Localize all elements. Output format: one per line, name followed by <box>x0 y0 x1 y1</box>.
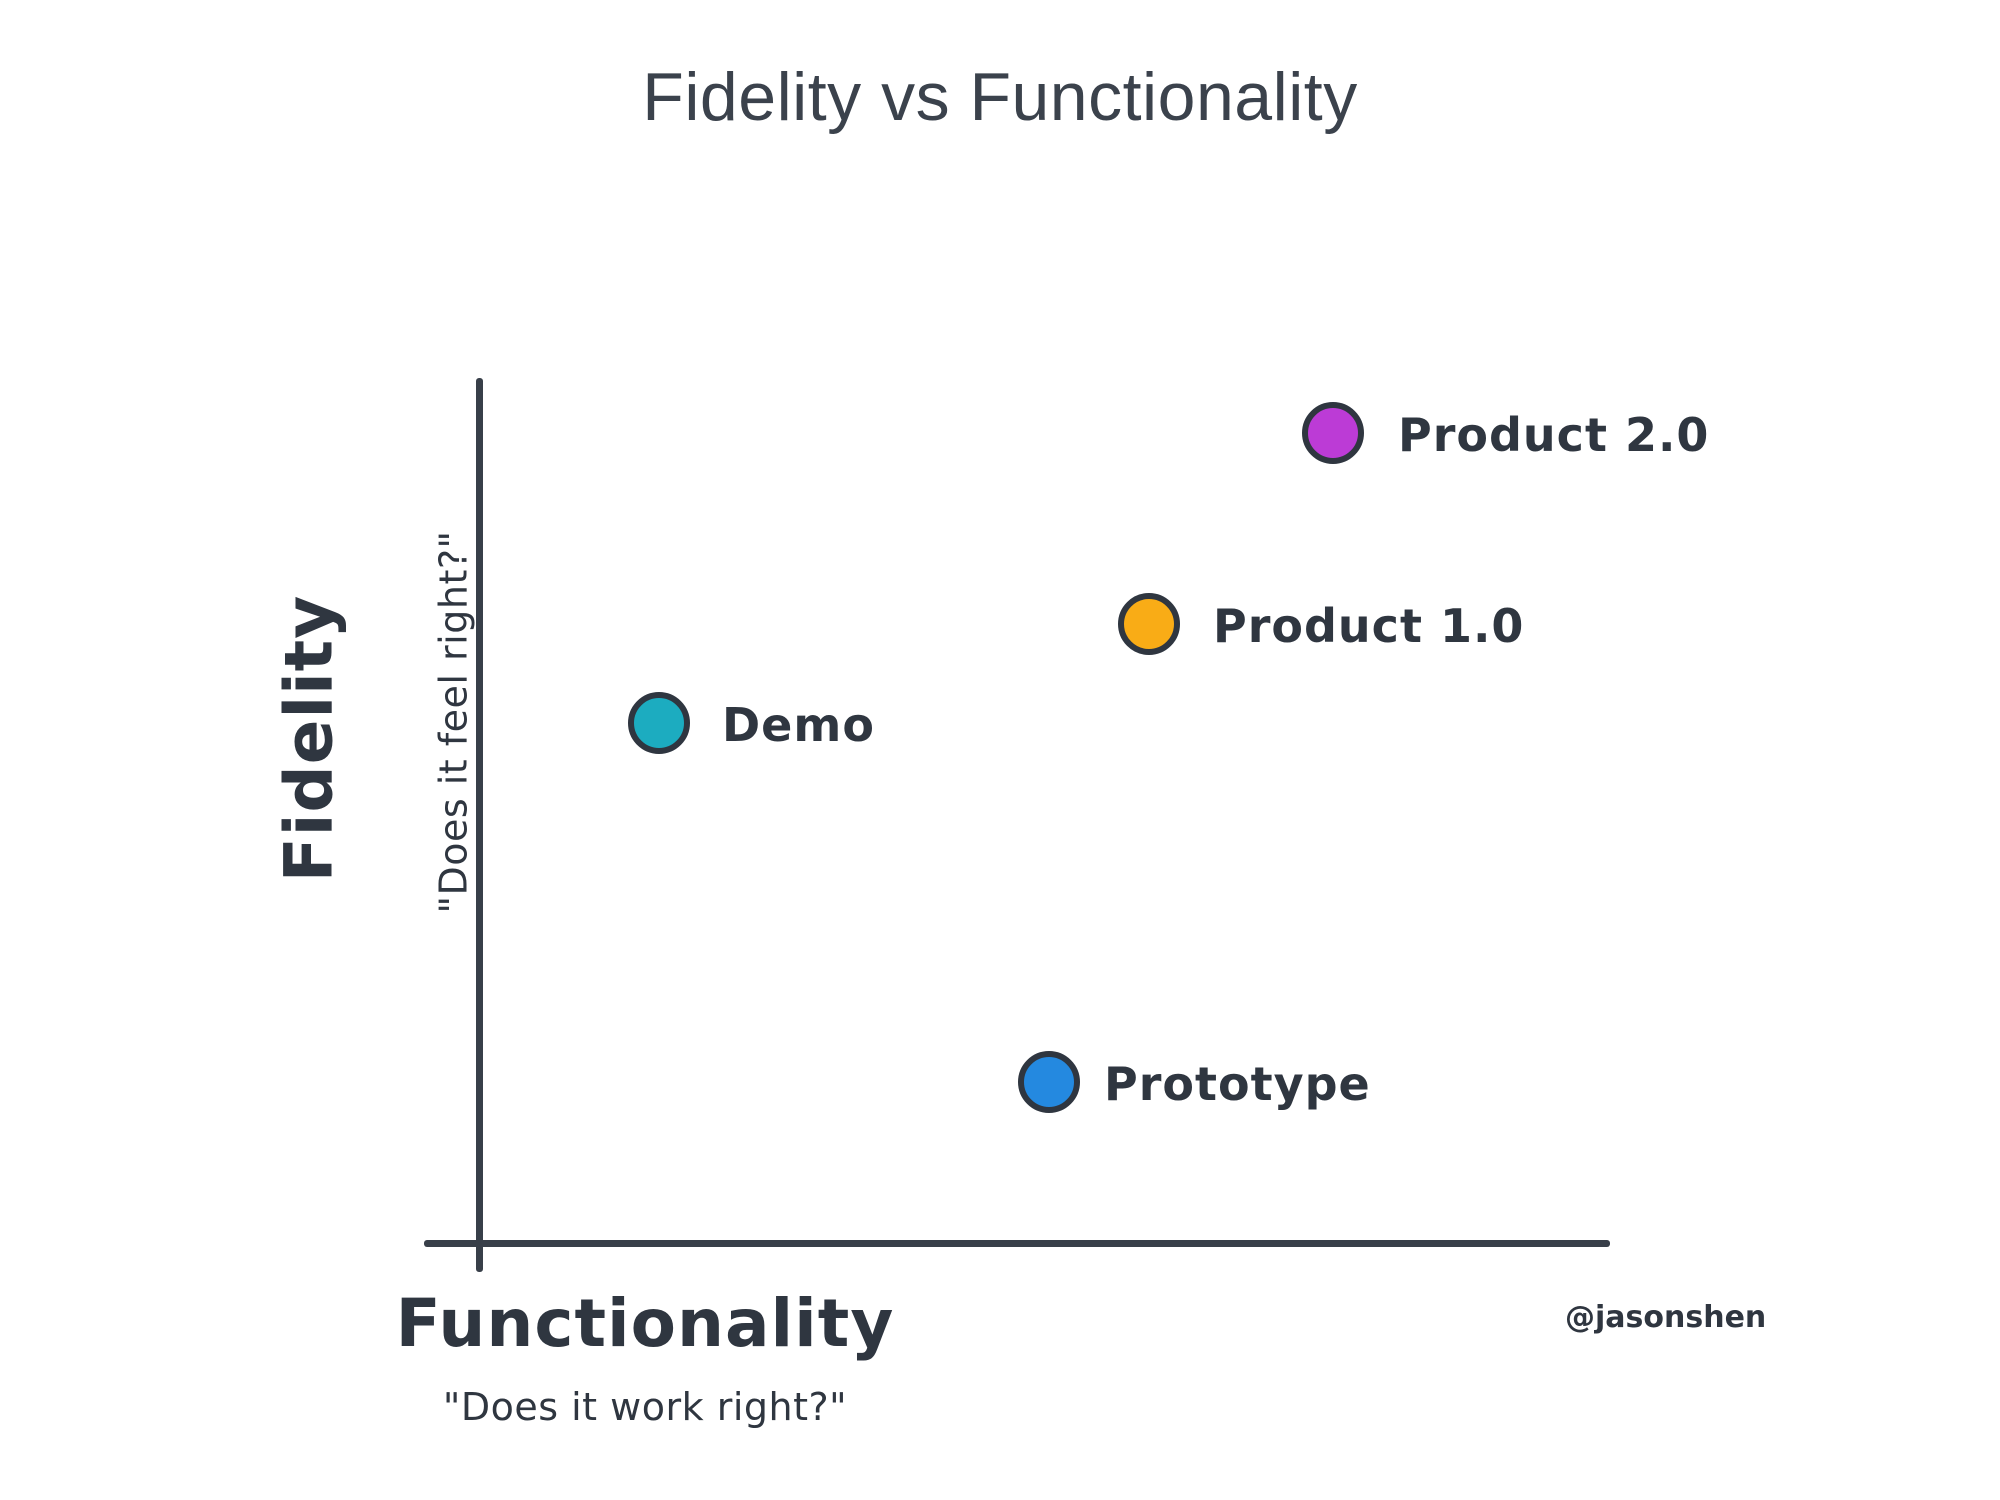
data-point-product-2-0[interactable] <box>1302 402 1364 464</box>
data-point-label-prototype: Prototype <box>1104 1057 1371 1111</box>
data-point-label-product-1-0: Product 1.0 <box>1213 599 1524 653</box>
data-point-product-1-0[interactable] <box>1118 593 1180 655</box>
x-axis-line <box>424 1240 1610 1247</box>
x-axis-title: Functionality <box>0 1285 1290 1362</box>
data-point-demo[interactable] <box>628 692 690 754</box>
y-axis-title: Fidelity <box>270 595 347 883</box>
y-axis-line <box>476 378 483 1272</box>
data-point-label-demo: Demo <box>722 698 875 752</box>
data-point-label-product-2-0: Product 2.0 <box>1398 408 1709 462</box>
x-axis-subtitle: "Does it work right?" <box>0 1385 1290 1429</box>
attribution-handle: @jasonshen <box>1565 1300 1766 1335</box>
y-axis-subtitle: "Does it feel right?" <box>432 531 476 914</box>
data-point-prototype[interactable] <box>1018 1051 1080 1113</box>
